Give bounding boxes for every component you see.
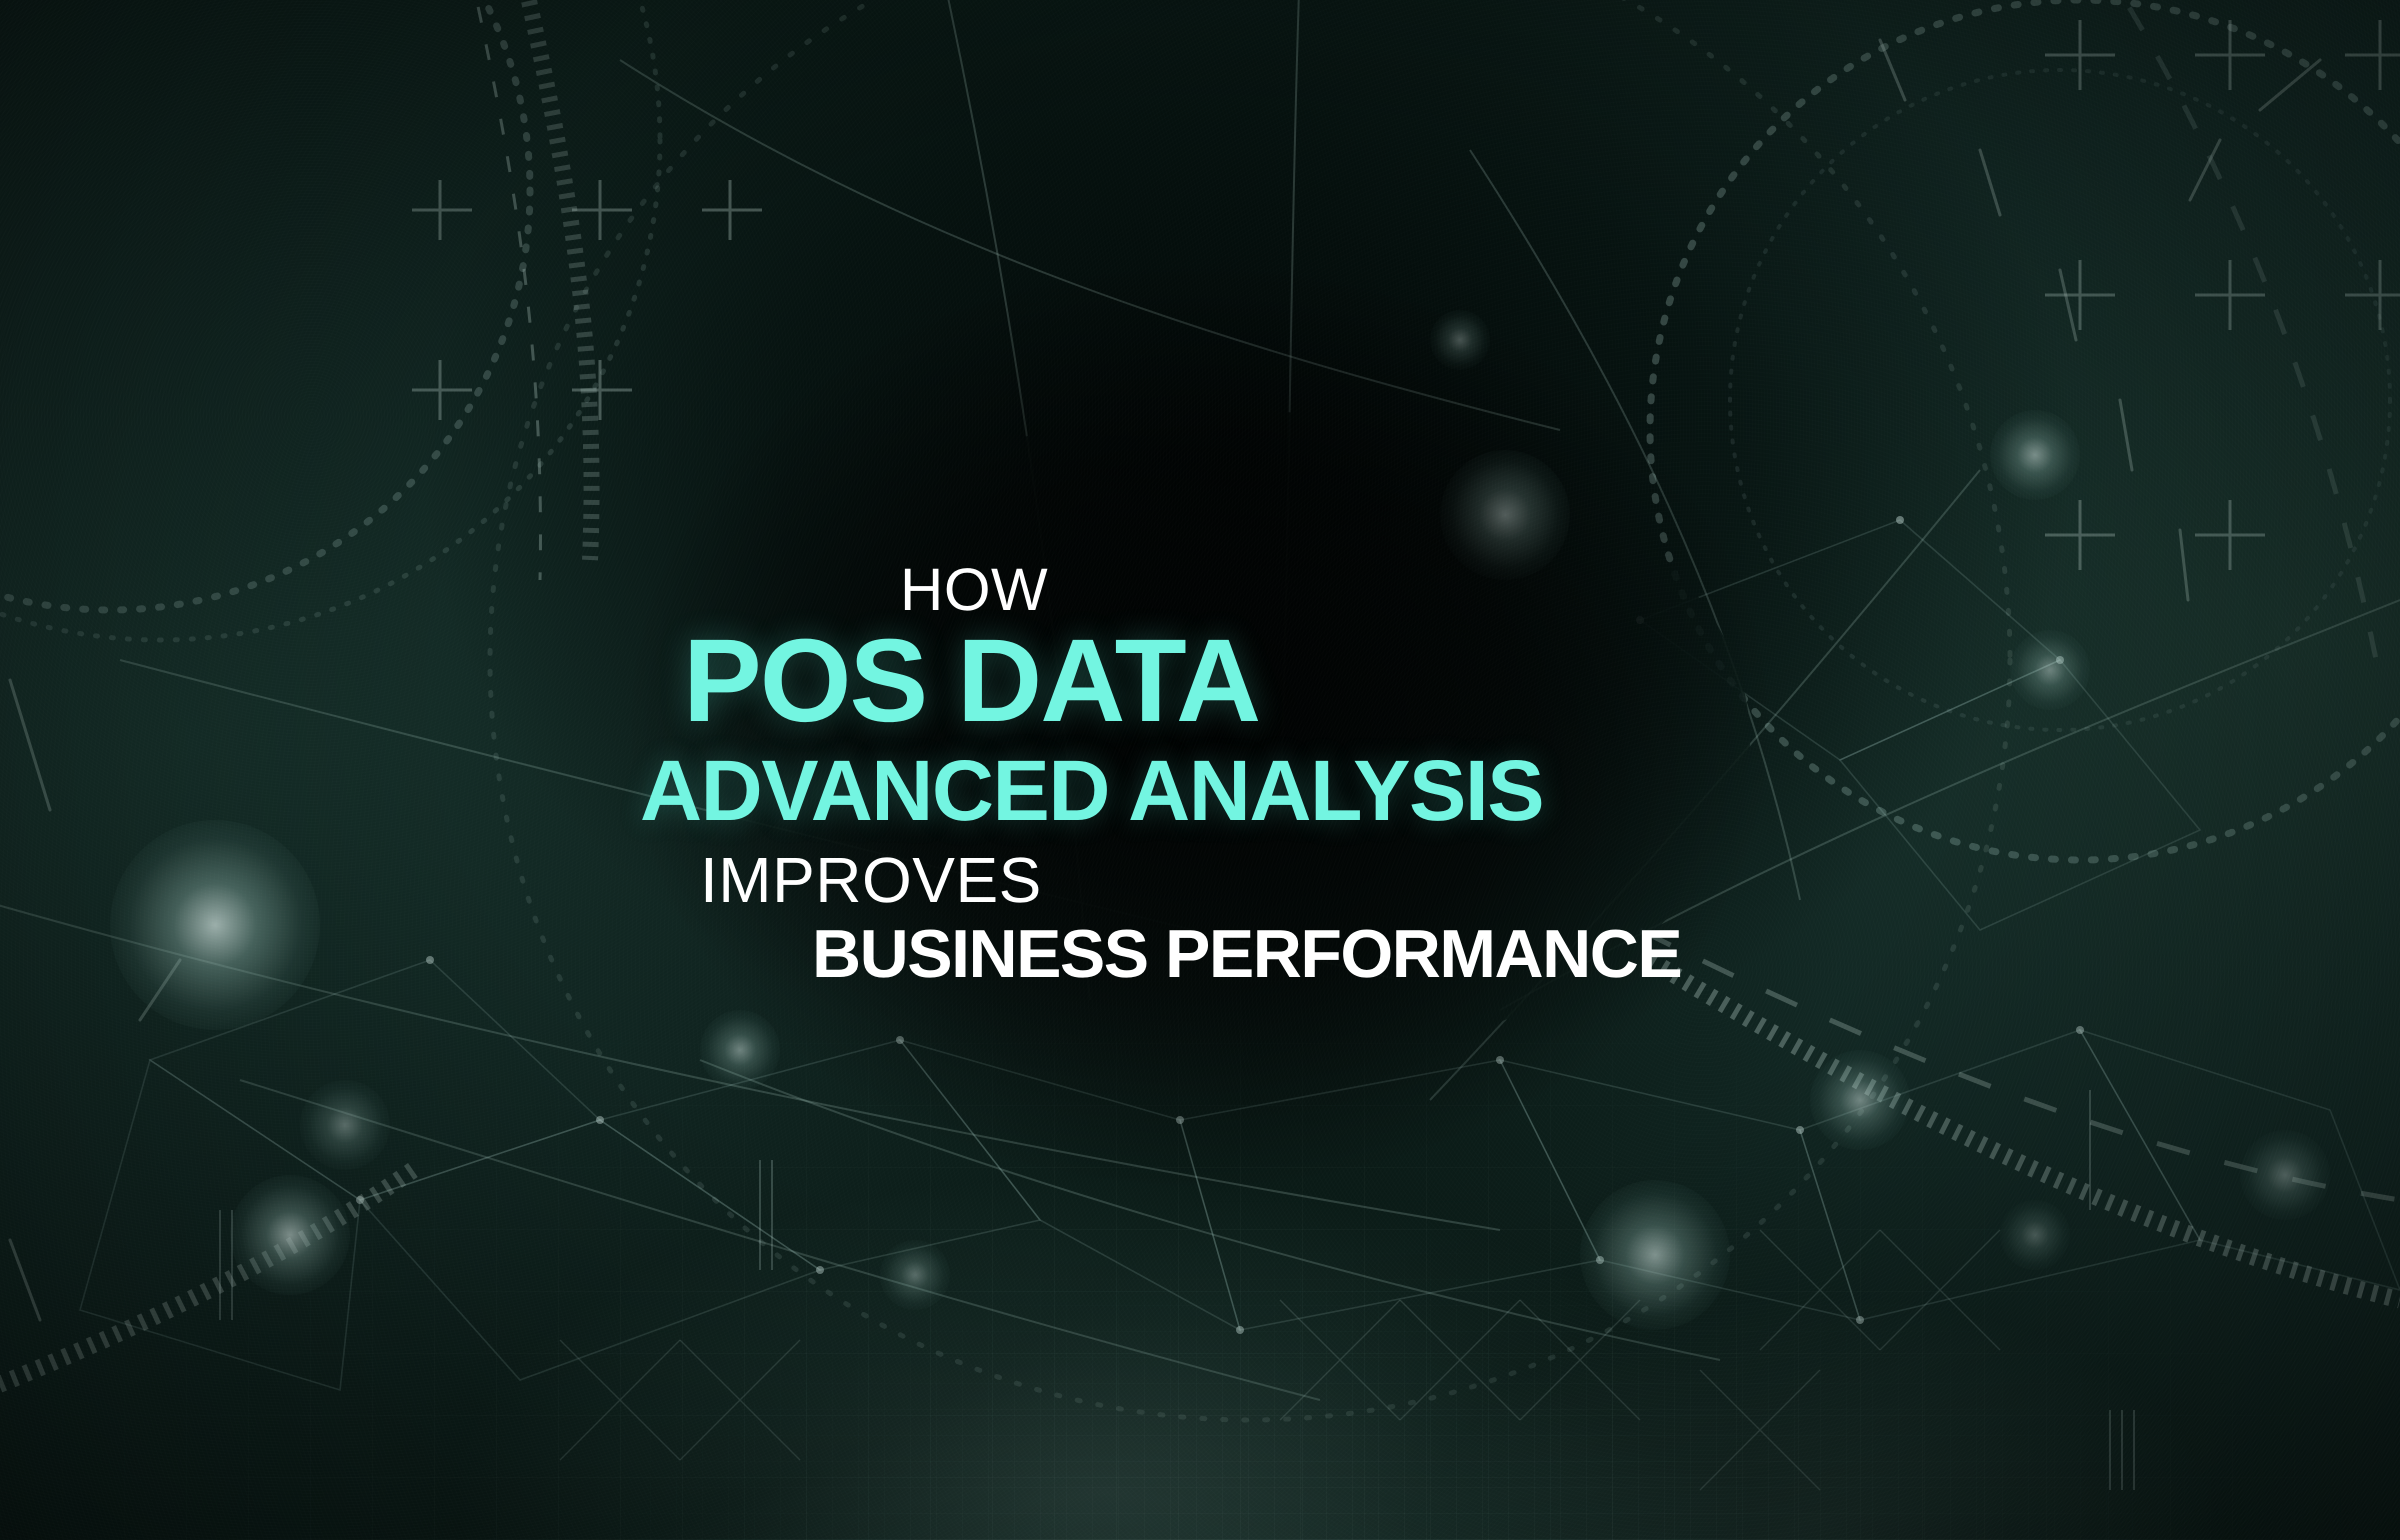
ticked-arc-top-left (470, 0, 592, 580)
headline-line-pos-data: POS DATA (683, 622, 1259, 740)
headline-line-improves: IMPROVES (700, 848, 1042, 912)
background-fine-grid (0, 0, 2400, 1540)
headline-line-business-performance: BUSINESS PERFORMANCE (812, 920, 1681, 988)
headline-block: HOW POS DATA ADVANCED ANALYSIS IMPROVES … (0, 0, 2400, 1540)
glow-orb (2000, 1200, 2070, 1270)
plus-marker-grid (412, 20, 2400, 570)
glow-orb (1810, 1050, 1910, 1150)
dotted-circle-center (490, 0, 2010, 1420)
glow-orb (1430, 310, 1490, 370)
background-vignette (0, 0, 2400, 1540)
glow-orb (880, 1240, 950, 1310)
background-measurement-grid (0, 0, 2400, 1540)
tick-accents (10, 40, 2320, 1320)
glow-orb (1990, 410, 2080, 500)
glow-orb (2240, 1130, 2330, 1220)
glow-orb (110, 820, 320, 1030)
banner-canvas: HOW POS DATA ADVANCED ANALYSIS IMPROVES … (0, 0, 2400, 1540)
ticked-arc-bottom-left (0, 1165, 420, 1400)
headline-line-advanced-analysis: ADVANCED ANALYSIS (640, 748, 1543, 834)
glow-orb (300, 1080, 390, 1170)
headline-line-how: HOW (900, 560, 1048, 620)
dotted-circle-top-left (0, 0, 660, 640)
glow-orb (1580, 1180, 1730, 1330)
headline-backdrop-shadow (0, 0, 2400, 1540)
ticked-arc-bottom-right (1640, 930, 2400, 1300)
background-bottom-haze (0, 0, 2400, 1540)
background-grain (0, 0, 2400, 1540)
ticked-arc-right-edge (2100, 0, 2380, 680)
glow-orb (2010, 630, 2090, 710)
glow-orb (230, 1175, 350, 1295)
network-chords (0, 0, 2400, 1400)
grid-cross-cells (560, 1230, 2000, 1490)
glow-orb (700, 1010, 780, 1090)
micro-label-bars (220, 1090, 2134, 1490)
network-node-dots (356, 516, 2084, 1334)
network-mesh (80, 520, 2400, 1390)
dotted-circle-top-right (1650, 0, 2400, 860)
background-network-graphic (0, 0, 2400, 1540)
glow-orb (1440, 450, 1570, 580)
background-base-gradient (0, 0, 2400, 1540)
